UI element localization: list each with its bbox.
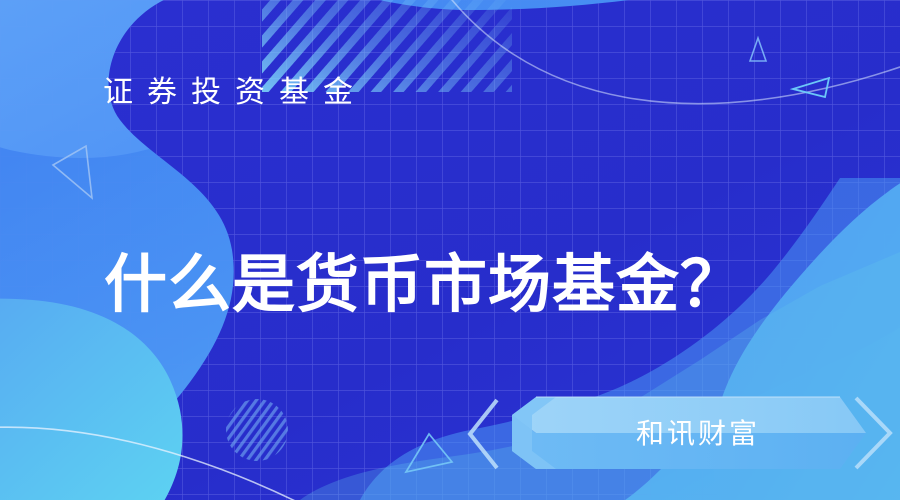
brand-ribbon-label: 和讯财富 (478, 396, 840, 468)
brand-ribbon: 和讯财富 (478, 396, 900, 468)
poster-canvas: 证券投资基金 什么是货币市场基金？ 和讯财富 (0, 0, 900, 500)
